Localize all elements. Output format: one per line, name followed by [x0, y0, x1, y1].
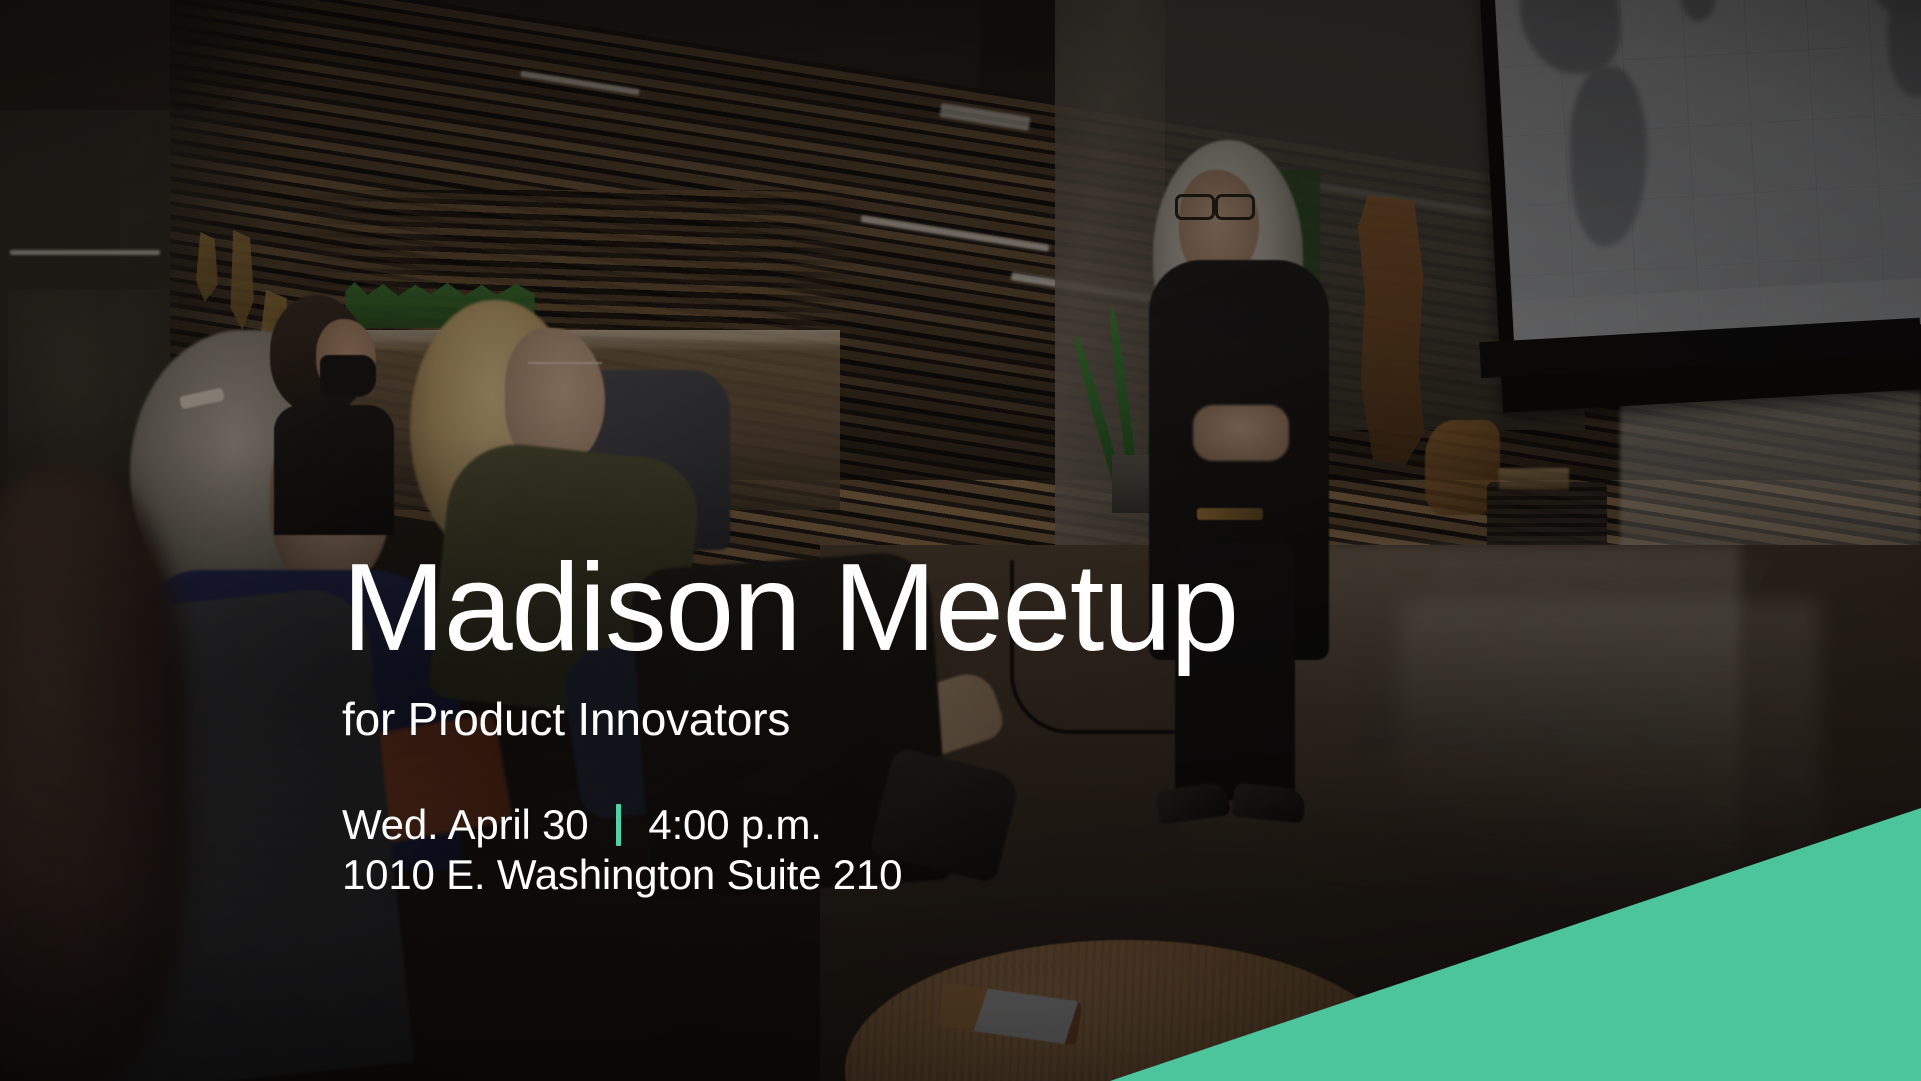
projection-screen-surface: [1492, 0, 1921, 347]
separator-bar: [616, 804, 621, 846]
poster-text-overlay: Madison Meetup for Product Innovators We…: [342, 546, 1542, 899]
eyeglasses: [1175, 194, 1261, 214]
eyeglasses: [528, 362, 602, 378]
event-details: Wed. April 30 4:00 p.m. 1010 E. Washingt…: [342, 800, 1542, 899]
foreground-blurred-person: [0, 470, 190, 1081]
event-datetime-line: Wed. April 30 4:00 p.m.: [342, 800, 1542, 850]
audience-member-masked: [270, 295, 380, 515]
subtitle: for Product Innovators: [342, 696, 1542, 742]
hands-gesturing: [1193, 405, 1289, 461]
strip-light: [10, 250, 160, 255]
page-title: Madison Meetup: [342, 546, 1542, 670]
event-date: Wed. April 30: [342, 801, 588, 848]
belt: [1197, 508, 1263, 520]
torso: [274, 405, 394, 535]
event-address: 1010 E. Washington Suite 210: [342, 850, 1542, 900]
face-mask: [320, 355, 376, 397]
event-time: 4:00 p.m.: [648, 801, 821, 848]
event-poster: Madison Meetup for Product Innovators We…: [0, 0, 1921, 1081]
